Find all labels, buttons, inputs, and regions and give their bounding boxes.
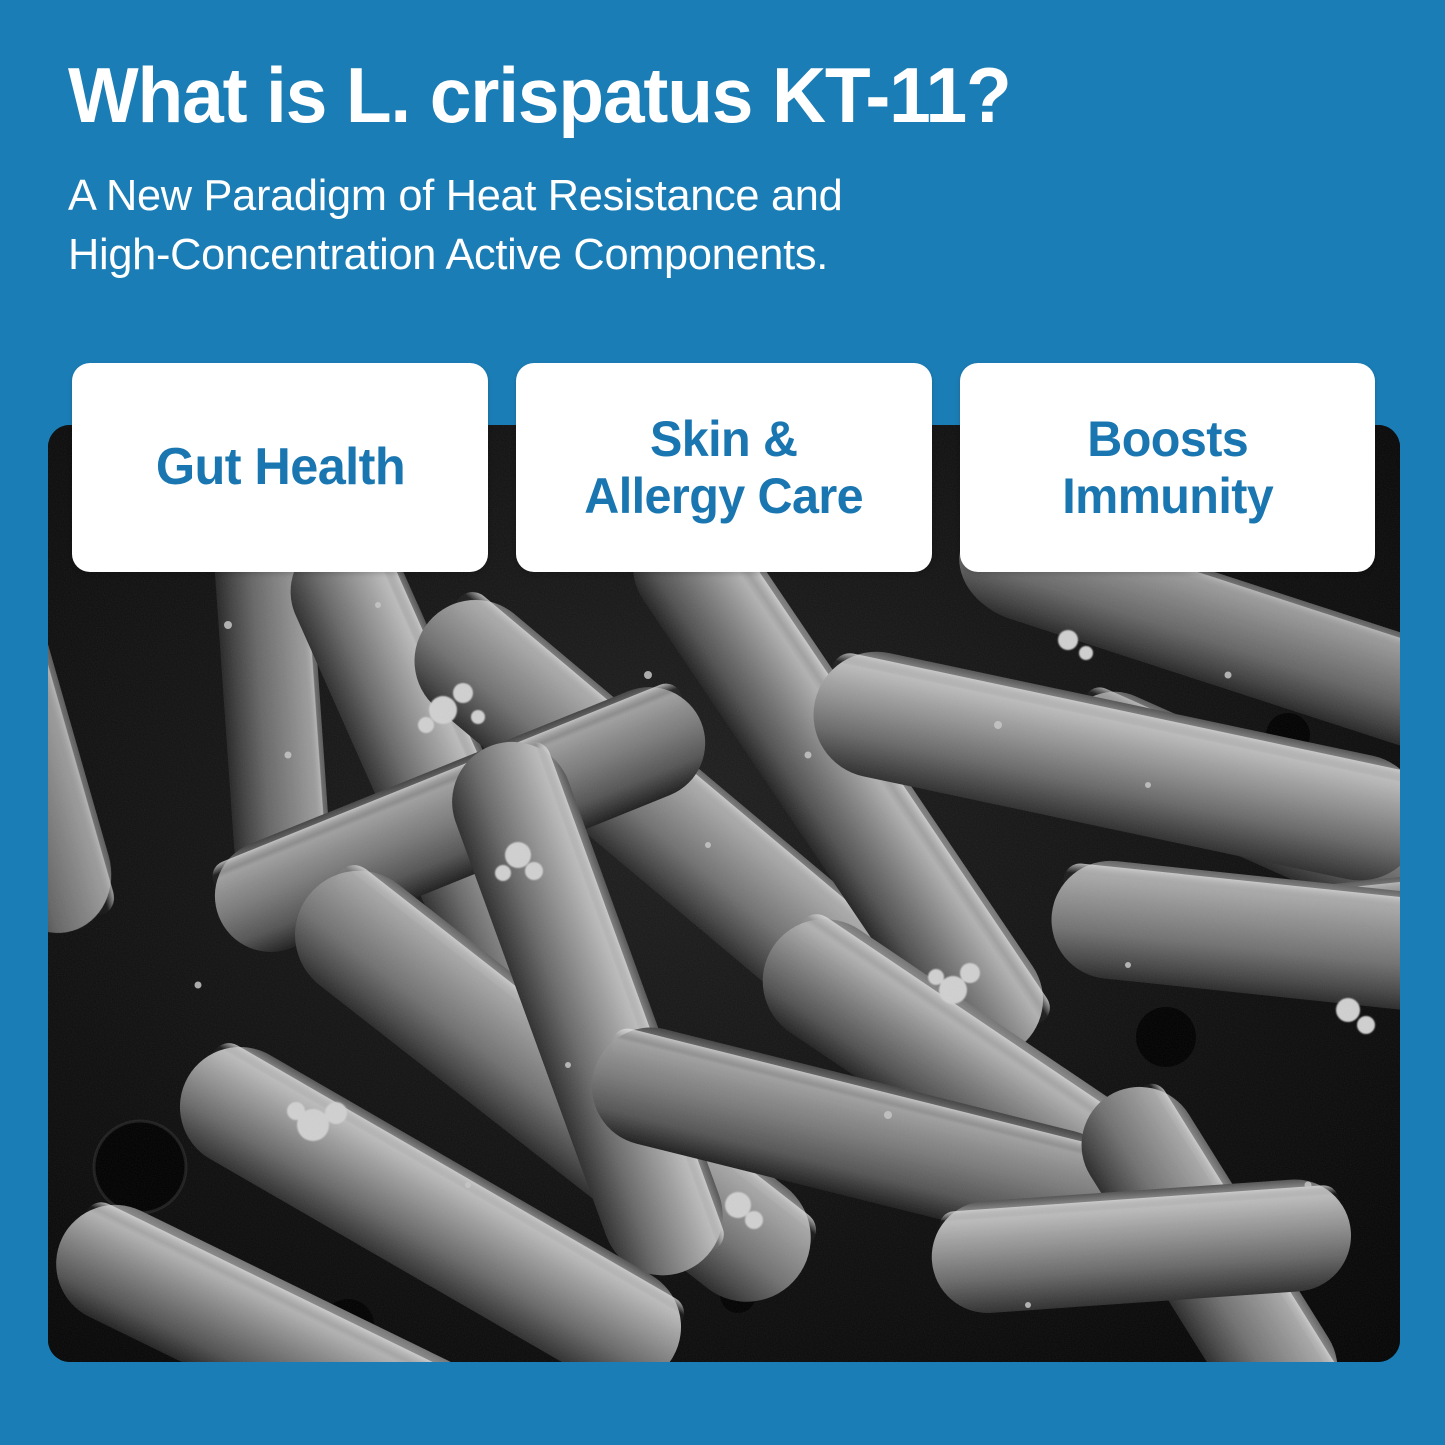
promo-graphic: What is L. crispatus KT-11? A New Paradi… [0, 0, 1445, 1445]
badge-card-boosts-immunity[interactable]: Boosts Immunity [960, 363, 1375, 572]
page-title: What is L. crispatus KT-11? [68, 56, 1335, 134]
page-subtitle: A New Paradigm of Heat Resistance and Hi… [68, 134, 1368, 284]
badge-card-skin-allergy-care[interactable]: Skin & Allergy Care [516, 363, 932, 572]
benefit-badges: Gut Health Skin & Allergy Care Boosts Im… [72, 363, 1375, 572]
badge-card-gut-health[interactable]: Gut Health [72, 363, 488, 572]
badge-label-gut-health: Gut Health [155, 438, 404, 497]
badge-label-boosts-immunity: Boosts Immunity [1062, 411, 1273, 524]
header: What is L. crispatus KT-11? A New Paradi… [68, 56, 1388, 284]
page-subtitle-line-2: High-Concentration Active Components. [68, 226, 1368, 285]
badge-label-skin-allergy-care: Skin & Allergy Care [585, 411, 864, 524]
page-subtitle-line-1: A New Paradigm of Heat Resistance and [68, 167, 1368, 226]
